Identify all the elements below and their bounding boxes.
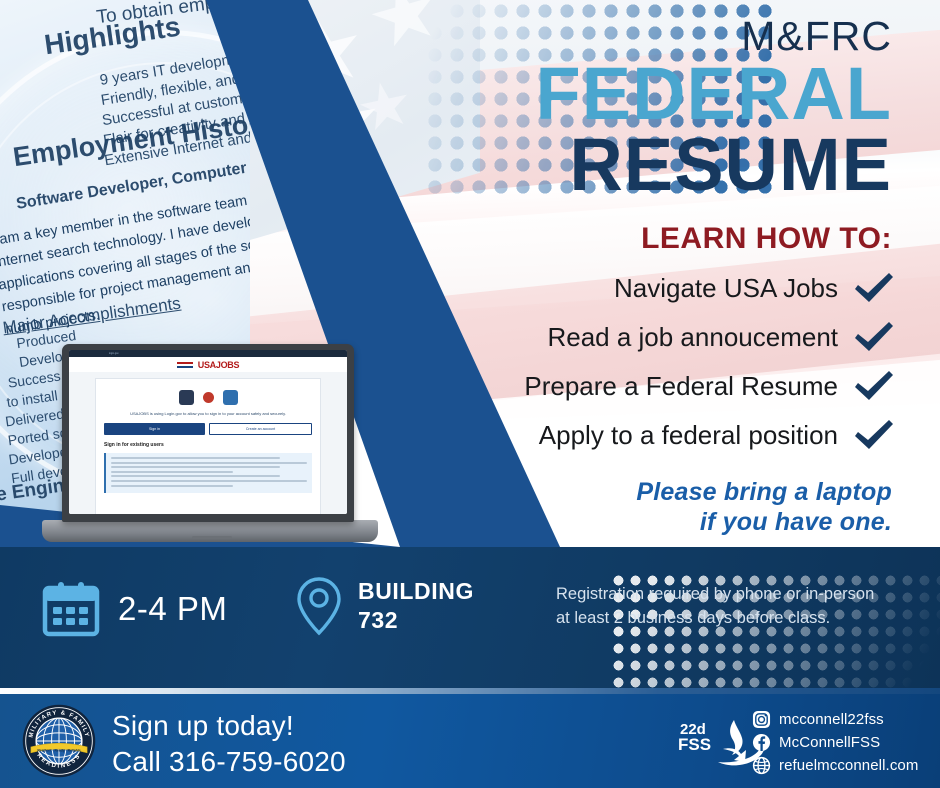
check-icon [852,320,896,354]
list-item: Apply to a federal position [376,419,896,451]
time-group: 2-4 PM [42,580,227,638]
text-line [111,471,233,473]
social-row-facebook[interactable]: McConnellFSS [752,733,918,752]
location-line-1: BUILDING [358,578,474,604]
location-label: BUILDING 732 [358,577,474,635]
military-family-readiness-seal: Resilient · Ready · Reliable MILITARY & … [22,704,96,778]
check-icon [852,369,896,403]
browser-window-icon [223,390,238,405]
cta-line-2: Call 316-759-6020 [112,744,346,780]
list-item: Navigate USA Jobs [376,272,896,304]
social-links: mcconnell22fss McConnellFSS refuelmcconn… [752,710,918,779]
text-line [111,462,307,464]
check-icon [852,271,896,305]
signin-blurb: USAJOBS is using Login.gov to allow you … [104,411,312,417]
globe-icon[interactable] [752,756,771,775]
text-line [111,466,280,468]
instagram-icon[interactable] [752,710,771,729]
calendar-icon [42,580,100,638]
check-icon [852,418,896,452]
facebook-icon[interactable] [752,733,771,752]
social-handle[interactable]: refuelmcconnell.com [779,757,918,774]
text-line [111,457,280,459]
browser-bar: login.gov [69,350,347,357]
artwork-area: To obtain employment Highlights 9 years … [0,0,940,547]
header-title-block: M&FRC FEDERAL RESUME [536,16,892,202]
list-item: Read a job annoucement [376,321,896,353]
map-pin-icon [296,575,342,637]
usajobs-header: USAJOBS [69,357,347,372]
time-label: 2-4 PM [118,590,227,628]
signup-cta: Sign up today! Call 316-759-6020 [112,708,346,780]
learn-how-to-heading: LEARN HOW TO: [641,222,892,256]
laptop-screen: login.gov USAJOBS USAJOBS is using [69,350,347,514]
list-item-label: Apply to a federal position [539,420,838,451]
info-band: 2-4 PM BUILDING 732 Registration require… [0,547,940,692]
signin-section-heading: Sign in for existing users [104,442,312,448]
bring-laptop-note: Please bring a laptop if you have one. [636,478,892,537]
signin-illustration [104,390,312,405]
title-line-resume: RESUME [536,129,892,202]
social-row-website[interactable]: refuelmcconnell.com [752,756,918,775]
signin-card: USAJOBS is using Login.gov to allow you … [95,378,321,514]
lock-icon [203,392,214,403]
signin-notice [104,453,312,493]
sign-in-button[interactable]: Sign in [104,423,205,435]
location-group: BUILDING 732 [296,575,474,637]
signin-buttons: Sign in Create an account [104,423,312,435]
list-item-label: Read a job annoucement [547,322,838,353]
person-icon [179,390,194,405]
laptop-trackpad [192,536,232,539]
seal-banner-text: Resilient · Ready · Reliable [37,748,80,752]
social-row-instagram[interactable]: mcconnell22fss [752,710,918,729]
location-line-2: 732 [358,607,398,633]
registration-line-2: at least 2 business days before class. [556,607,926,631]
note-line-1: Please bring a laptop [636,478,892,508]
org-name: M&FRC [536,16,892,57]
learn-how-to-list: Navigate USA Jobs Read a job annoucement… [376,272,896,468]
browser-url: login.gov [69,350,347,357]
text-line [111,480,307,482]
social-handle[interactable]: McConnellFSS [779,734,880,751]
create-account-button[interactable]: Create an account [209,423,312,435]
fss-line-2: FSS [678,735,711,754]
cta-line-1: Sign up today! [112,708,346,744]
laptop-lid: login.gov USAJOBS USAJOBS is using [62,344,354,522]
list-item-label: Prepare a Federal Resume [524,371,838,402]
registration-note: Registration required by phone or in-per… [556,583,926,631]
laptop-icon: login.gov USAJOBS USAJOBS is using [42,344,378,547]
usajobs-page: USAJOBS is using Login.gov to allow you … [69,372,347,514]
text-line [111,475,280,477]
note-line-2: if you have one. [636,508,892,538]
social-handle[interactable]: mcconnell22fss [779,711,884,728]
registration-line-1: Registration required by phone or in-per… [556,583,926,607]
title-line-federal: FEDERAL [536,59,892,129]
us-flag-icon [177,362,193,368]
list-item-label: Navigate USA Jobs [614,273,838,304]
text-line [111,485,233,487]
list-item: Prepare a Federal Resume [376,370,896,402]
usajobs-logo: USAJOBS [198,360,239,370]
poster: To obtain employment Highlights 9 years … [0,0,940,788]
